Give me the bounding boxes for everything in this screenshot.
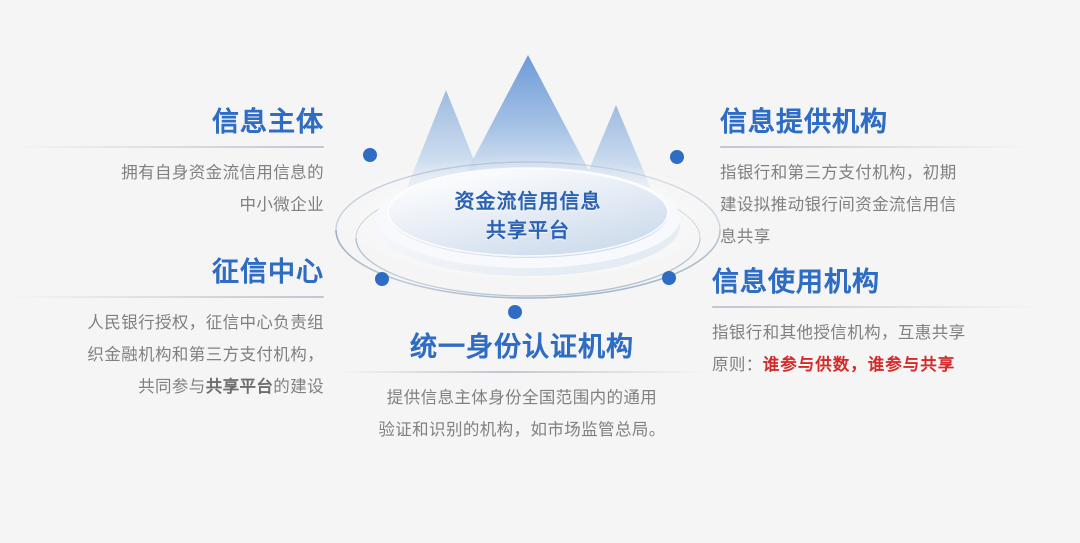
block-info-user-body: 指银行和其他授信机构，互惠共享 原则：谁参与供数，谁参与共享 bbox=[712, 317, 1042, 381]
orbit-node bbox=[363, 148, 377, 162]
heading-divider bbox=[712, 306, 1042, 308]
block-identity-auth-body: 提供信息主体身份全国范围内的通用 验证和识别的机构，如市场监管总局。 bbox=[338, 382, 706, 446]
heading-divider bbox=[338, 371, 706, 373]
body-line: 息共享 bbox=[720, 221, 1032, 253]
body-line: 提供信息主体身份全国范围内的通用 bbox=[338, 382, 706, 414]
block-identity-auth-heading: 统一身份认证机构 bbox=[338, 330, 706, 364]
heading-divider bbox=[720, 146, 1032, 148]
body-line: 人民银行授权，征信中心负责组 bbox=[4, 307, 324, 339]
body-line: 拥有自身资金流信用信息的 bbox=[12, 157, 324, 189]
body-line: 建设拟推动银行间资金流信用信 bbox=[720, 189, 1032, 221]
body-line: 织金融机构和第三方支付机构， bbox=[4, 339, 324, 371]
block-info-user: 信息使用机构 指银行和其他授信机构，互惠共享 原则：谁参与供数，谁参与共享 bbox=[712, 265, 1042, 381]
block-credit-center-heading: 征信中心 bbox=[4, 255, 324, 289]
body-text: 原则： bbox=[712, 355, 763, 374]
platform-title-line1: 资金流信用信息 bbox=[318, 188, 738, 217]
orbit-node bbox=[375, 272, 389, 286]
block-identity-auth: 统一身份认证机构 提供信息主体身份全国范围内的通用 验证和识别的机构，如市场监管… bbox=[338, 330, 706, 446]
body-line: 指银行和其他授信机构，互惠共享 bbox=[712, 317, 1042, 349]
block-info-user-heading: 信息使用机构 bbox=[712, 265, 1042, 299]
central-platform-graphic: 资金流信用信息 共享平台 bbox=[318, 30, 738, 350]
body-line: 指银行和第三方支付机构，初期 bbox=[720, 157, 1032, 189]
block-credit-center-body: 人民银行授权，征信中心负责组 织金融机构和第三方支付机构， 共同参与共享平台的建… bbox=[4, 307, 324, 403]
block-info-subject: 信息主体 拥有自身资金流信用信息的 中小微企业 bbox=[12, 105, 324, 221]
infographic-canvas: 资金流信用信息 共享平台 信息主体 拥有自身资金流信用信息的 中小微企业 征信中… bbox=[0, 0, 1080, 543]
platform-title-line2: 共享平台 bbox=[318, 217, 738, 246]
orbit-node bbox=[508, 305, 522, 319]
block-info-provider: 信息提供机构 指银行和第三方支付机构，初期 建设拟推动银行间资金流信用信 息共享 bbox=[720, 105, 1032, 253]
body-text-emphasis: 共享平台 bbox=[206, 377, 274, 396]
body-text: 的建设 bbox=[273, 377, 324, 396]
body-line: 共同参与共享平台的建设 bbox=[4, 371, 324, 403]
block-info-subject-heading: 信息主体 bbox=[12, 105, 324, 139]
body-line: 验证和识别的机构，如市场监管总局。 bbox=[338, 414, 706, 446]
body-text: 共同参与 bbox=[138, 377, 206, 396]
heading-divider bbox=[12, 146, 324, 148]
body-text-highlight: 谁参与供数，谁参与共享 bbox=[763, 355, 956, 374]
block-info-provider-heading: 信息提供机构 bbox=[720, 105, 1032, 139]
heading-divider bbox=[4, 296, 324, 298]
platform-title: 资金流信用信息 共享平台 bbox=[318, 188, 738, 246]
orbit-node bbox=[670, 150, 684, 164]
body-line: 中小微企业 bbox=[12, 189, 324, 221]
block-info-provider-body: 指银行和第三方支付机构，初期 建设拟推动银行间资金流信用信 息共享 bbox=[720, 157, 1032, 253]
block-credit-center: 征信中心 人民银行授权，征信中心负责组 织金融机构和第三方支付机构， 共同参与共… bbox=[4, 255, 324, 403]
orbit-node bbox=[662, 271, 676, 285]
block-info-subject-body: 拥有自身资金流信用信息的 中小微企业 bbox=[12, 157, 324, 221]
body-line: 原则：谁参与供数，谁参与共享 bbox=[712, 349, 1042, 381]
